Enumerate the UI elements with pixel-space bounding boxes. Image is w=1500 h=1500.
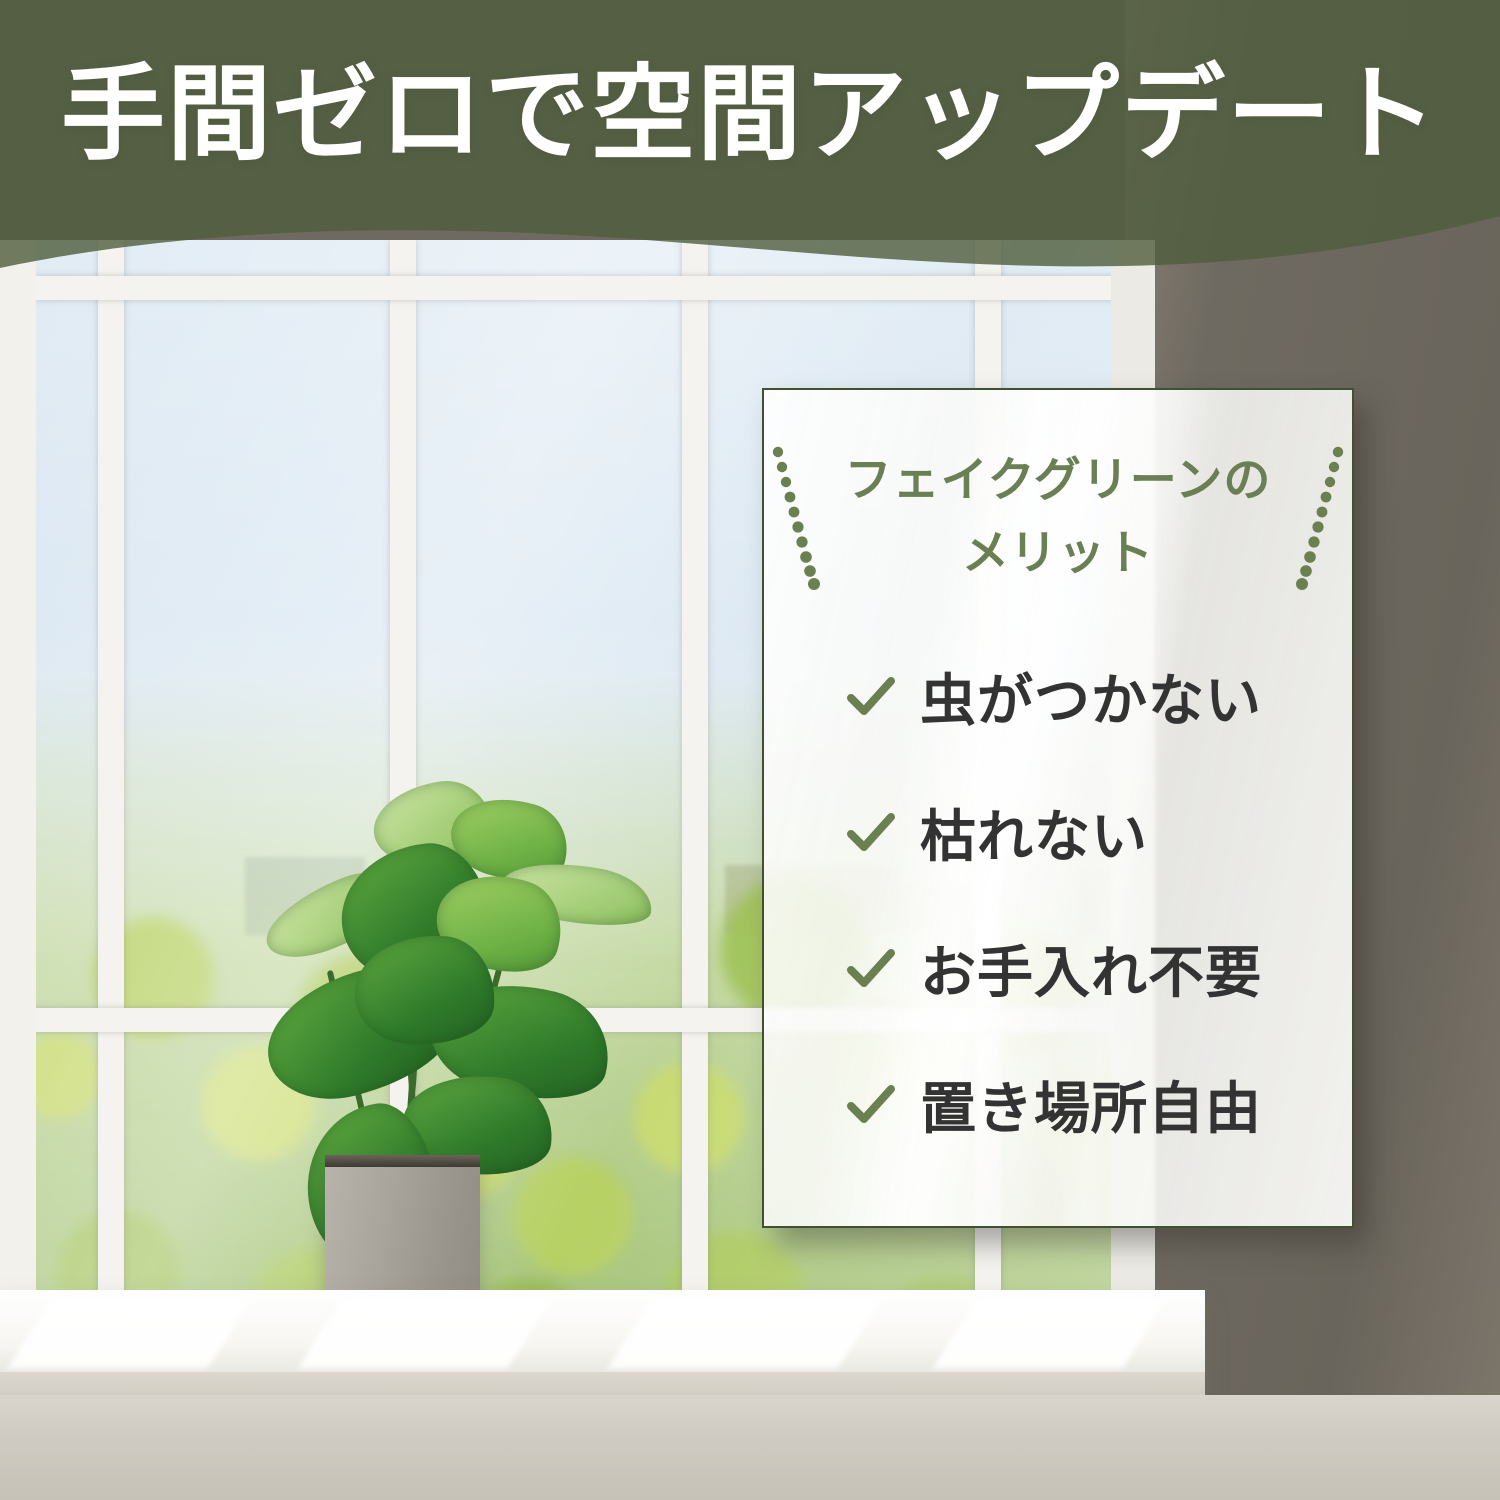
merit-label: 置き場所自由 [920,1064,1262,1145]
merit-label: 虫がつかない [920,656,1262,737]
merit-list: 虫がつかない 枯れない お手入れ不要 置き場所自由 [846,628,1316,1172]
poster-canvas: 手間ゼロで空間アップデート フェイクグリーンの メリット [0,0,1500,1500]
card-title: フェイクグリーンの メリット [845,444,1272,590]
interior-wall-bottom [0,1395,1500,1500]
merit-card: フェイクグリーンの メリット [762,388,1354,1228]
merit-label: お手入れ不要 [920,928,1262,1009]
list-item: 枯れない [846,764,1316,900]
list-item: お手入れ不要 [846,900,1316,1036]
check-icon [846,1079,896,1129]
list-item: 置き場所自由 [846,1036,1316,1172]
list-item: 虫がつかない [846,628,1316,764]
pothos-plant-icon [255,755,655,1365]
dotted-slash-right-icon [1289,442,1345,592]
check-icon [846,671,896,721]
card-header: フェイクグリーンの メリット [764,442,1352,592]
merit-label: 枯れない [920,792,1148,873]
check-icon [846,943,896,993]
check-icon [846,807,896,857]
dotted-slash-left-icon [771,442,827,592]
